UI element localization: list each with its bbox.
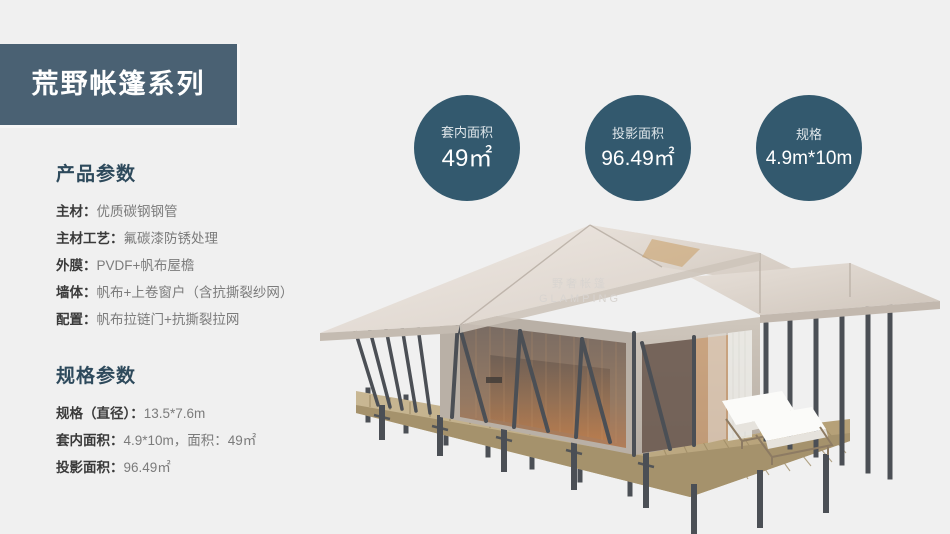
spec-value: 13.5*7.6m — [144, 406, 206, 421]
spec-label: 配置： — [56, 312, 97, 327]
spec-value: PVDF+帆布屋檐 — [97, 258, 195, 273]
metric-badge-interior-area: 套内面积 49㎡ — [414, 95, 520, 201]
section-heading-product: 产品参数 — [56, 165, 356, 184]
badge-label: 投影面积 — [612, 127, 664, 140]
product-render: 野奢帐篷 GLAMPING — [290, 205, 950, 534]
badge-number: 49 — [442, 145, 469, 172]
spec-value: 帆布拉链门+抗撕裂拉网 — [97, 312, 240, 327]
page-title: 荒野帐篷系列 — [32, 71, 206, 98]
slide-root: 荒野帐篷系列 产品参数 主材：优质碳钢钢管 主材工艺：氟碳漆防锈处理 外膜：PV… — [0, 0, 950, 534]
spec-label: 主材： — [56, 204, 97, 219]
badge-unit: ㎡ — [468, 145, 492, 172]
spec-label: 投影面积： — [56, 460, 124, 475]
spec-value: 帆布+上卷窗户（含抗撕裂纱网） — [97, 285, 294, 300]
spec-label: 套内面积： — [56, 433, 124, 448]
spec-label: 主材工艺： — [56, 231, 124, 246]
badge-label: 规格 — [796, 128, 822, 141]
tent-render-illustration — [290, 205, 950, 534]
spec-label: 墙体： — [56, 285, 97, 300]
title-banner: 荒野帐篷系列 — [0, 44, 240, 128]
spec-value: 优质碳钢钢管 — [97, 204, 178, 219]
spec-value: 96.49㎡ — [124, 460, 171, 475]
badge-number: 96.49 — [601, 147, 654, 170]
metric-badge-dimensions: 规格 4.9m*10m — [756, 95, 862, 201]
badge-unit: ㎡ — [654, 147, 675, 170]
badge-value: 4.9m*10m — [766, 149, 853, 168]
spec-value: 4.9*10m，面积：49㎡ — [124, 433, 257, 448]
spec-label: 外膜： — [56, 258, 97, 273]
wall-fixture — [486, 377, 502, 383]
metric-badges: 套内面积 49㎡ 投影面积 96.49㎡ 规格 4.9m*10m — [414, 95, 874, 203]
badge-value: 49㎡ — [442, 147, 493, 171]
badge-value: 96.49㎡ — [601, 148, 675, 169]
spec-value: 氟碳漆防锈处理 — [124, 231, 219, 246]
badge-number: 4.9m*10m — [766, 148, 853, 169]
metric-badge-projected-area: 投影面积 96.49㎡ — [585, 95, 691, 201]
spec-label: 规格（直径）： — [56, 406, 144, 421]
badge-label: 套内面积 — [441, 126, 493, 139]
